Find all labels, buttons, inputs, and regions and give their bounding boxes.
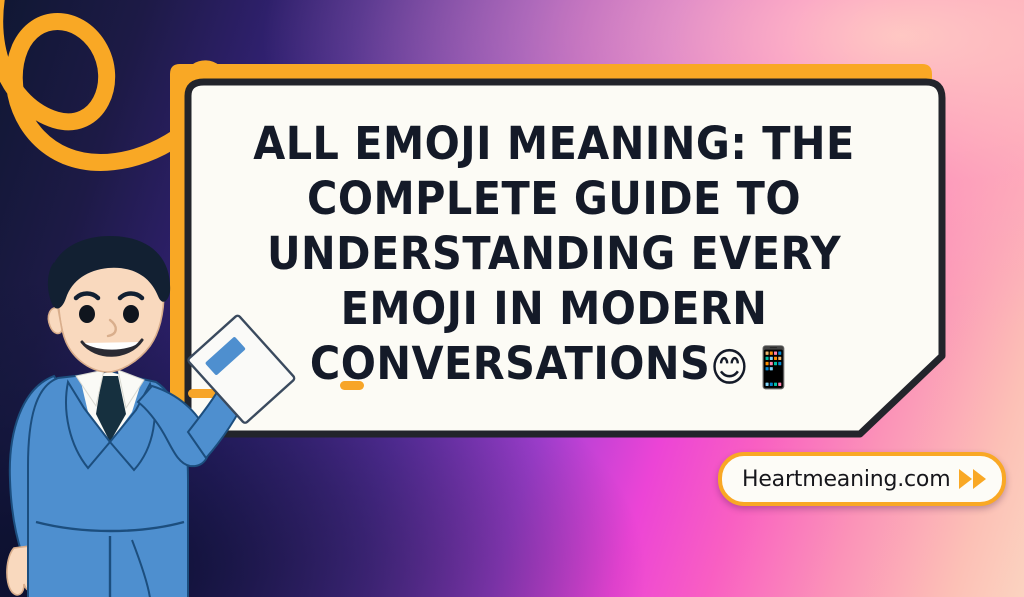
title-line-4: EMOJI IN MODERN — [226, 281, 881, 336]
page-title: ALL EMOJI MEANING: THE COMPLETE GUIDE TO… — [226, 116, 881, 394]
title-line-2: COMPLETE GUIDE TO — [226, 171, 881, 226]
site-logo-badge[interactable]: Heartmeaning.com — [718, 452, 1006, 506]
character-eye — [123, 305, 139, 323]
title-line-1: ALL EMOJI MEANING: THE — [226, 116, 881, 171]
title-line-5: CONVERSATIONS😊📱 — [226, 336, 881, 394]
title-line-3: UNDERSTANDING EVERY — [226, 226, 881, 281]
inline-emoji-group: 😊📱 — [710, 345, 798, 391]
held-document-icon — [186, 306, 298, 434]
fast-forward-icon — [959, 469, 986, 489]
title-line-5-text: CONVERSATIONS — [310, 337, 710, 390]
emoji-meaning-banner: ALL EMOJI MEANING: THE COMPLETE GUIDE TO… — [0, 0, 1024, 597]
character-eye — [79, 305, 95, 323]
site-logo-text: Heartmeaning.com — [742, 467, 950, 492]
